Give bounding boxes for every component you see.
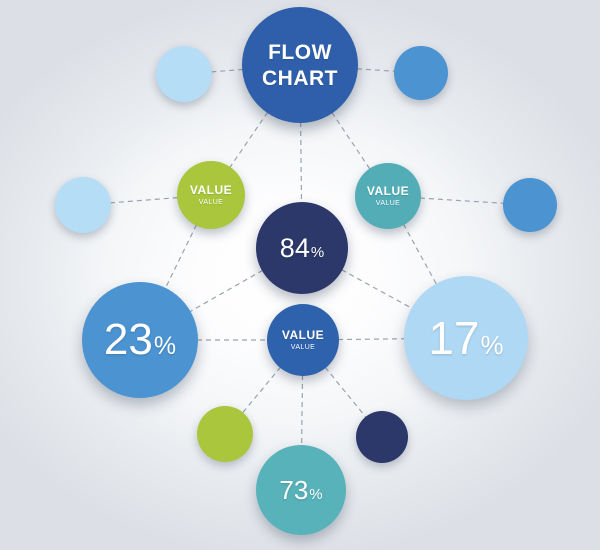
percent-symbol: % [309,487,322,502]
hub-title-line2: CHART [262,68,338,89]
value-label-sub: VALUE [199,199,223,206]
percent-number: 17 [428,315,479,361]
percent-number: 73 [279,477,308,503]
value-node-teal[interactable]: VALUE VALUE [355,163,421,229]
value-label-main: VALUE [367,185,409,197]
satellite-dot-left[interactable] [55,177,111,233]
percent-number: 84 [280,235,310,262]
percent-symbol: % [481,332,504,358]
percent-node-17[interactable]: 17% [404,276,528,400]
percent-node-73[interactable]: 73% [256,445,346,535]
flow-chart-hub-node[interactable]: FLOW CHART [242,7,358,123]
flow-chart-infographic: FLOW CHART VALUE VALUE VALUE VALUE 84% 2… [0,0,600,550]
satellite-dot-bottom-left[interactable] [197,406,253,462]
value-node-center[interactable]: VALUE VALUE [267,304,339,376]
value-label-sub: VALUE [376,200,400,207]
percent-node-23[interactable]: 23% [82,282,198,398]
satellite-dot-top-right[interactable] [394,46,448,100]
percent-value: 73% [279,477,322,503]
value-label-main: VALUE [190,184,232,196]
percent-node-84[interactable]: 84% [256,202,348,294]
percent-number: 23 [104,318,153,362]
node-layer: FLOW CHART VALUE VALUE VALUE VALUE 84% 2… [0,0,600,550]
percent-symbol: % [154,334,176,359]
percent-value: 23% [104,318,176,362]
percent-value: 17% [428,315,503,361]
value-label-main: VALUE [282,329,324,341]
percent-value: 84% [280,235,324,262]
satellite-dot-top-left[interactable] [156,46,212,102]
value-node-green[interactable]: VALUE VALUE [177,161,245,229]
hub-title-line1: FLOW [268,42,332,63]
satellite-dot-bottom-right[interactable] [356,411,408,463]
value-label-sub: VALUE [291,344,315,351]
satellite-dot-right[interactable] [503,178,557,232]
percent-symbol: % [311,245,324,260]
